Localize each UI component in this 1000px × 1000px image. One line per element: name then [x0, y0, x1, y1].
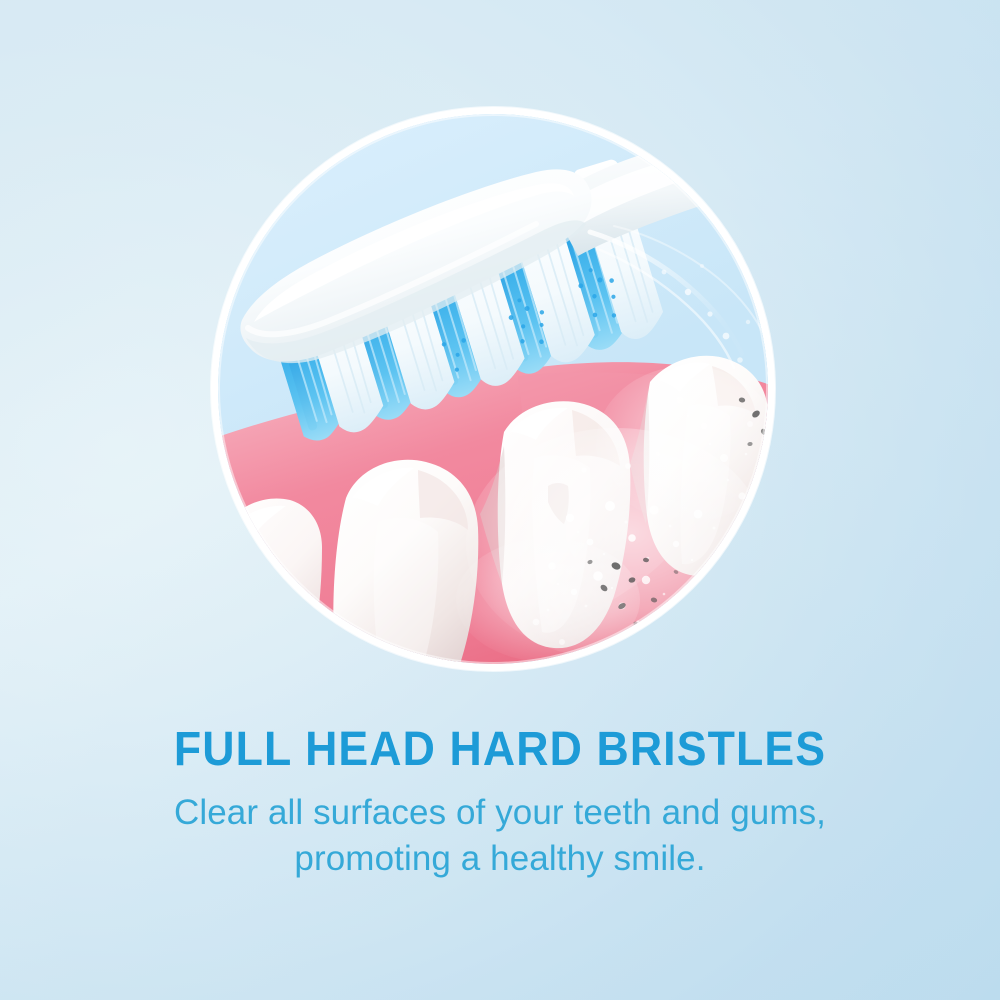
caption-block: FULL HEAD HARD BRISTLES Clear all surfac…	[0, 726, 1000, 881]
product-feature-poster: FULL HEAD HARD BRISTLES Clear all surfac…	[0, 0, 1000, 1000]
headline: FULL HEAD HARD BRISTLES	[35, 726, 965, 774]
subtitle-line-1: Clear all surfaces of your teeth and gum…	[0, 790, 1000, 836]
toothbrush-illustration	[218, 114, 768, 664]
subtitle: Clear all surfaces of your teeth and gum…	[0, 790, 1000, 881]
hero-image	[218, 114, 768, 664]
hero-circle-frame	[218, 114, 768, 664]
subtitle-line-2: promoting a healthy smile.	[0, 836, 1000, 882]
